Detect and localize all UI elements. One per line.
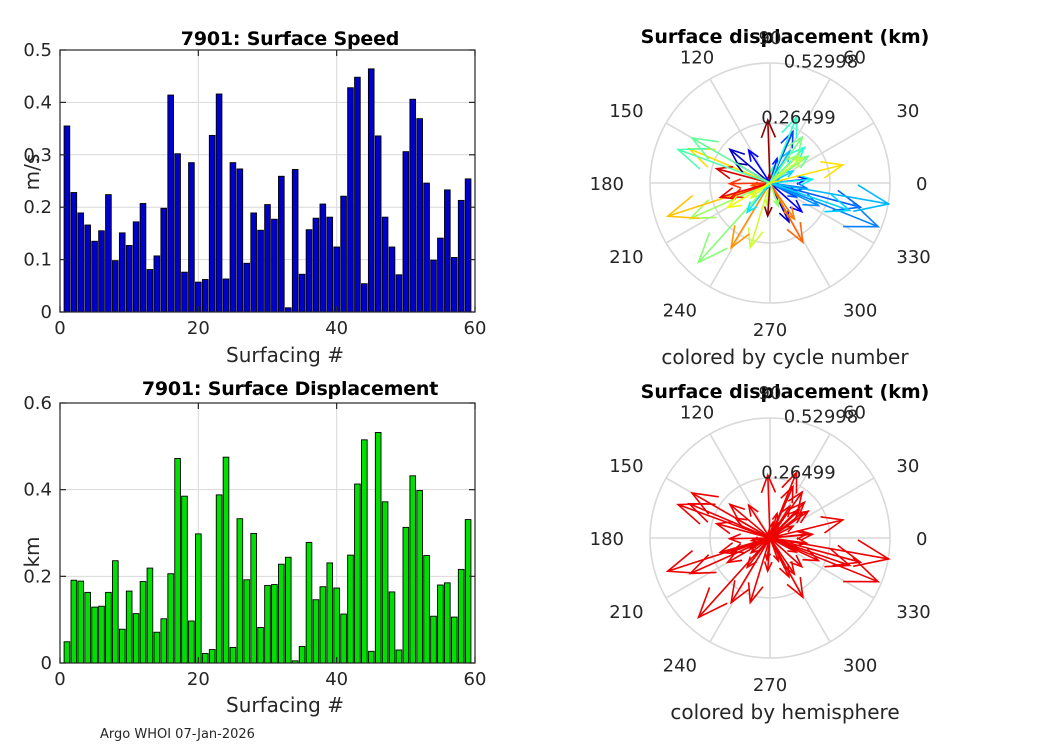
x-tick-label: 0 — [54, 318, 65, 339]
bar — [389, 592, 395, 663]
x-tick-label: 60 — [464, 318, 487, 339]
speed-chart-plot: 020406000.10.20.30.40.5 — [0, 0, 520, 375]
bar — [230, 647, 236, 663]
bar — [285, 308, 291, 312]
bar — [458, 200, 464, 312]
bar — [85, 592, 91, 663]
bar — [313, 218, 319, 312]
bar — [202, 280, 208, 312]
bar — [306, 543, 312, 663]
bar — [299, 274, 305, 312]
bar — [251, 533, 257, 663]
bar — [362, 284, 368, 312]
speed-chart-title: 7901: Surface Speed — [0, 28, 520, 50]
polar-angle-label: 180 — [590, 174, 624, 195]
bar — [92, 607, 98, 663]
bar — [334, 588, 340, 663]
bar — [216, 94, 222, 312]
bar — [154, 632, 160, 663]
bar — [445, 190, 451, 312]
bar — [299, 647, 305, 663]
bar — [223, 457, 229, 663]
bar — [458, 569, 464, 663]
polar-angle-label: 270 — [753, 675, 787, 696]
argo-float-summary-figure: 7901: Surface Speed m/s Surfacing # 0204… — [0, 0, 1050, 750]
bar — [341, 614, 347, 663]
bar — [189, 621, 195, 663]
bar — [445, 583, 451, 663]
speed-bars — [64, 69, 471, 312]
bar — [348, 88, 354, 312]
bar — [175, 154, 181, 312]
x-tick-label: 60 — [464, 669, 487, 690]
bar — [451, 258, 457, 313]
bar — [334, 247, 340, 312]
bar — [99, 231, 105, 312]
polar-cycle-plot: 03060901201501802102402703003300.264990.… — [520, 18, 1050, 348]
bar — [216, 495, 222, 663]
figure-footer-stamp: Argo WHOI 07-Jan-2026 — [100, 727, 255, 742]
polar-angle-label: 90 — [759, 383, 782, 404]
bar — [71, 193, 77, 312]
bar — [140, 204, 146, 312]
bar — [140, 582, 146, 663]
bar — [438, 238, 444, 312]
polar-angle-label: 240 — [663, 655, 697, 676]
bar — [389, 247, 395, 312]
bar — [230, 163, 236, 312]
bar — [133, 614, 139, 663]
polar-vector-shaft — [692, 138, 770, 183]
bar — [64, 642, 70, 663]
bar — [175, 458, 181, 663]
polar-angle-label: 300 — [843, 655, 877, 676]
polar-angle-label: 210 — [609, 602, 643, 623]
bar — [209, 650, 215, 663]
panel-surface-speed: 7901: Surface Speed m/s Surfacing # 0204… — [0, 0, 520, 375]
bar — [106, 592, 112, 663]
bar — [375, 136, 381, 312]
bar — [154, 256, 160, 312]
bar — [258, 230, 264, 312]
bar — [272, 219, 278, 312]
bar — [279, 176, 285, 312]
bar — [396, 650, 402, 663]
bar — [71, 580, 77, 663]
x-tick-label: 20 — [187, 669, 210, 690]
polar-angle-label: 120 — [680, 48, 714, 69]
polar-vector-shaft — [690, 183, 770, 218]
bar — [64, 126, 70, 312]
speed-x-axis-label: Surfacing # — [0, 343, 520, 367]
bar — [320, 587, 326, 663]
bar — [431, 616, 437, 663]
speed-y-axis-label: m/s — [20, 112, 44, 232]
polar-angle-label: 90 — [759, 28, 782, 49]
x-tick-label: 40 — [325, 669, 348, 690]
bar — [410, 476, 416, 663]
panel-surface-displacement: 7901: Surface Displacement km Surfacing … — [0, 375, 520, 750]
bar — [327, 563, 333, 663]
polar-grid-spoke — [770, 478, 874, 538]
bar — [244, 580, 250, 663]
bar — [285, 557, 291, 663]
bar — [126, 245, 132, 312]
displacement-bars — [64, 432, 471, 663]
bar — [424, 183, 430, 312]
bar — [403, 527, 409, 663]
displacement-chart-title: 7901: Surface Displacement — [0, 378, 520, 400]
bar — [382, 502, 388, 663]
polar-angle-label: 0 — [916, 529, 927, 550]
polar-radial-label: 0.52998 — [784, 52, 858, 73]
bar — [375, 432, 381, 663]
bar — [306, 230, 312, 312]
polar-grid-spoke — [710, 79, 770, 183]
bar — [313, 600, 319, 663]
bar — [292, 169, 298, 312]
bar — [237, 169, 243, 312]
polar-angle-label: 30 — [896, 456, 919, 477]
bar — [92, 241, 98, 312]
polar-angle-label: 330 — [896, 247, 930, 268]
bar — [341, 196, 347, 312]
bar — [113, 561, 119, 663]
bar — [403, 152, 409, 312]
bar — [417, 491, 423, 663]
bar — [126, 591, 132, 663]
bar — [133, 222, 139, 312]
bar — [355, 484, 361, 663]
bar — [85, 225, 91, 312]
polar-vector-shaft — [692, 493, 770, 538]
panel-polar-hemisphere: Surface displacement (km) 03060901201501… — [520, 375, 1050, 750]
y-tick-label: 0 — [41, 653, 52, 674]
x-tick-label: 0 — [54, 669, 65, 690]
polar-angle-label: 120 — [680, 403, 714, 424]
polar-angle-label: 150 — [609, 456, 643, 477]
polar-angle-label: 0 — [916, 174, 927, 195]
bar — [368, 651, 374, 663]
bar — [438, 585, 444, 663]
bar — [362, 440, 368, 663]
bar — [348, 555, 354, 663]
bar — [168, 574, 174, 663]
polar-hemisphere-caption: colored by hemisphere — [520, 700, 1050, 724]
bar — [355, 77, 361, 312]
x-tick-label: 40 — [325, 318, 348, 339]
bar — [272, 585, 278, 663]
displacement-y-axis-label: km — [20, 492, 44, 612]
bar — [265, 205, 271, 312]
bar — [119, 629, 125, 663]
bar — [209, 135, 215, 312]
bar — [168, 95, 174, 312]
polar-angle-label: 300 — [843, 300, 877, 321]
bar — [251, 213, 257, 312]
bar — [113, 261, 119, 312]
polar-hemi-vectors — [668, 472, 889, 617]
polar-hemisphere-plot: 03060901201501802102402703003300.264990.… — [520, 373, 1050, 703]
bar — [451, 617, 457, 663]
polar-radial-label: 0.26499 — [761, 107, 835, 128]
bar — [182, 272, 188, 312]
bar — [258, 627, 264, 663]
polar-angle-label: 240 — [663, 300, 697, 321]
polar-angle-label: 30 — [896, 101, 919, 122]
bar — [320, 204, 326, 312]
bar — [161, 619, 167, 663]
bar — [119, 233, 125, 312]
bar — [196, 534, 202, 663]
x-tick-label: 20 — [187, 318, 210, 339]
panel-polar-cycle: Surface displacement (km) 03060901201501… — [520, 0, 1050, 375]
bar — [279, 564, 285, 663]
polar-angle-label: 330 — [896, 602, 930, 623]
polar-angle-label: 270 — [753, 320, 787, 341]
polar-cycle-caption: colored by cycle number — [520, 345, 1050, 369]
bar — [182, 496, 188, 663]
bar — [465, 520, 471, 663]
polar-vector-shaft — [690, 538, 770, 573]
polar-grid-spoke — [710, 434, 770, 538]
bar — [202, 653, 208, 663]
bar — [106, 195, 112, 312]
polar-radial-label: 0.52998 — [784, 407, 858, 428]
bar — [237, 519, 243, 663]
bar — [99, 606, 105, 663]
bar — [161, 208, 167, 312]
bar — [368, 69, 374, 312]
bar — [244, 263, 250, 312]
polar-radial-label: 0.26499 — [761, 462, 835, 483]
bar — [431, 260, 437, 312]
bar — [327, 217, 333, 312]
bar — [410, 99, 416, 312]
bar — [78, 581, 84, 663]
bar — [382, 217, 388, 312]
polar-grid-spoke — [770, 123, 874, 183]
bar — [424, 556, 430, 663]
bar — [465, 179, 471, 312]
polar-angle-label: 210 — [609, 247, 643, 268]
displacement-x-axis-label: Surfacing # — [0, 693, 520, 717]
bar — [78, 213, 84, 312]
y-tick-label: 0.1 — [23, 250, 52, 271]
polar-angle-label: 180 — [590, 529, 624, 550]
bar — [396, 275, 402, 312]
y-tick-label: 0 — [41, 302, 52, 323]
polar-vector-shaft — [729, 538, 770, 539]
polar-cycle-vectors — [668, 117, 889, 262]
bar — [417, 119, 423, 312]
polar-angle-label: 150 — [609, 101, 643, 122]
polar-vector-shaft — [729, 183, 770, 184]
bar — [265, 585, 271, 663]
bar — [147, 568, 153, 663]
bar — [223, 279, 229, 312]
bar — [189, 163, 195, 312]
y-tick-label: 0.4 — [23, 92, 52, 113]
bar — [147, 270, 153, 312]
